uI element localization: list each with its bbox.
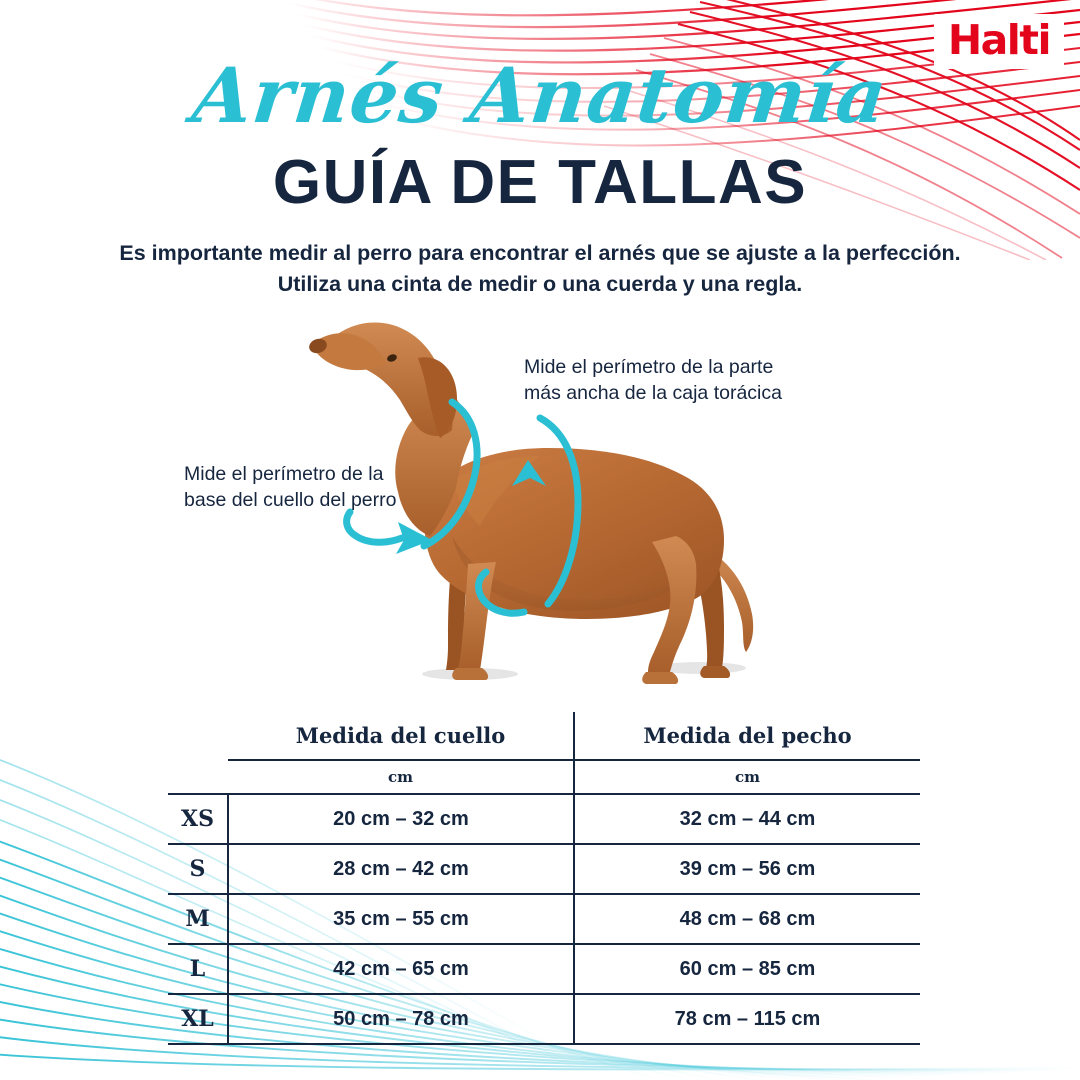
bottom-border-neck [228,1044,574,1045]
row-chest-xl: 78 cm – 115 cm [574,994,920,1044]
row-neck-m: 35 cm – 55 cm [228,894,574,944]
row-chest-xs: 32 cm – 44 cm [574,794,920,844]
row-neck-xs: 20 cm – 32 cm [228,794,574,844]
subtitle-line-1: Es importante medir al perro para encont… [90,238,990,269]
table-unit-header-row: cm cm [168,760,920,794]
size-table: Medida del cuello Medida del pecho cm cm… [168,712,920,1045]
row-size-s: S [168,844,228,894]
table-row: S 28 cm – 42 cm 39 cm – 56 cm [168,844,920,894]
row-size-m: M [168,894,228,944]
unit-header-chest: cm [574,760,920,794]
page-title: GUÍA DE TALLAS [0,152,1080,214]
brand-logo: Halti [934,14,1064,69]
table-bottom-border [168,1044,920,1045]
row-chest-s: 39 cm – 56 cm [574,844,920,894]
table-row: XS 20 cm – 32 cm 32 cm – 44 cm [168,794,920,844]
group-header-neck: Medida del cuello [228,712,574,760]
table-row: M 35 cm – 55 cm 48 cm – 68 cm [168,894,920,944]
row-neck-l: 42 cm – 65 cm [228,944,574,994]
row-size-l: L [168,944,228,994]
table-group-header-row: Medida del cuello Medida del pecho [168,712,920,760]
group-header-chest: Medida del pecho [574,712,920,760]
unit-header-neck: cm [228,760,574,794]
table-row: L 42 cm – 65 cm 60 cm – 85 cm [168,944,920,994]
row-size-xs: XS [168,794,228,844]
bottom-border-size [168,1044,228,1045]
bottom-border-chest [574,1044,920,1045]
row-neck-s: 28 cm – 42 cm [228,844,574,894]
group-header-spacer [168,712,228,760]
annotation-neck: Mide el perímetro de la base del cuello … [184,462,396,514]
row-size-xl: XL [168,994,228,1044]
row-neck-xl: 50 cm – 78 cm [228,994,574,1044]
size-guide-page: Halti Arnés Anatomía GUÍA DE TALLAS Es i… [0,0,1080,1080]
table-row: XL 50 cm – 78 cm 78 cm – 115 cm [168,994,920,1044]
row-chest-m: 48 cm – 68 cm [574,894,920,944]
subtitle: Es importante medir al perro para encont… [90,238,990,299]
annotation-chest: Mide el perímetro de la parte más ancha … [524,355,782,407]
row-chest-l: 60 cm – 85 cm [574,944,920,994]
subtitle-line-2: Utiliza una cinta de medir o una cuerda … [90,269,990,300]
annotation-chest-line-1: Mide el perímetro de la parte [524,355,782,381]
unit-header-spacer [168,760,228,794]
annotation-neck-line-2: base del cuello del perro [184,488,396,514]
script-title: Arnés Anatomía [0,58,1080,134]
annotation-neck-line-1: Mide el perímetro de la [184,462,396,488]
annotation-chest-line-2: más ancha de la caja torácica [524,381,782,407]
logo-text: Halti [948,20,1050,61]
